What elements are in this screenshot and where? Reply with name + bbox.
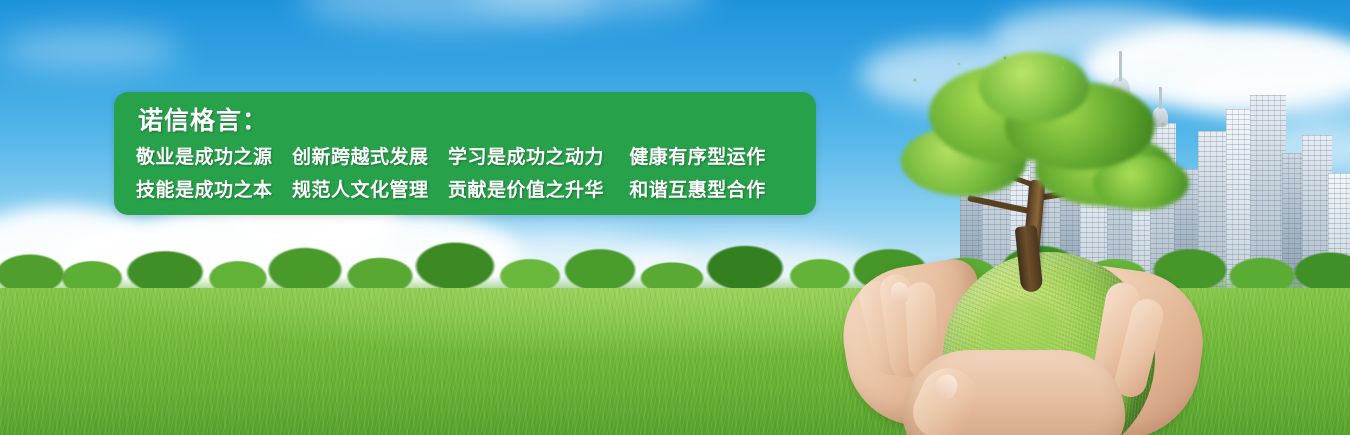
tree-leaf-detail	[895, 50, 1195, 220]
globe-in-hands	[855, 30, 1185, 435]
cloud-wisp	[0, 30, 180, 70]
motto-line-1: 敬业是成功之源 创新跨越式发展 学习是成功之动力 健康有序型运作	[136, 142, 766, 169]
motto-line-2: 技能是成功之本 规范人文化管理 贡献是价值之升华 和谐互惠型合作	[136, 175, 766, 202]
panel-title: 诺信格言：	[138, 101, 268, 137]
motto-panel: 诺信格言： 敬业是成功之源 创新跨越式发展 学习是成功之动力 健康有序型运作 技…	[114, 92, 816, 215]
eco-banner: 诺信格言： 敬业是成功之源 创新跨越式发展 学习是成功之动力 健康有序型运作 技…	[0, 0, 1350, 435]
